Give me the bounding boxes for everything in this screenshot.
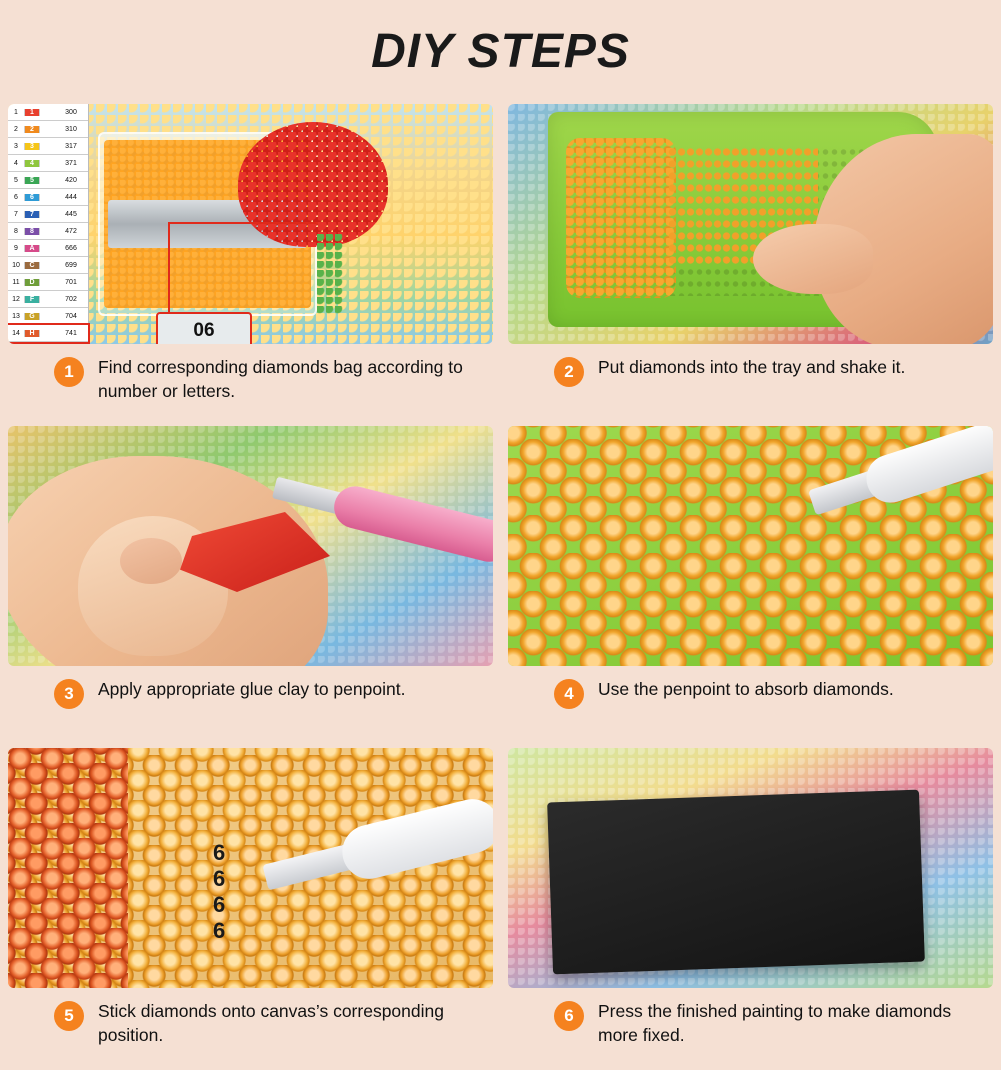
step-caption-text-1: Find corresponding diamonds bag accordin… bbox=[98, 356, 468, 403]
chart-row-code: D bbox=[25, 279, 40, 286]
canvas-green-stem bbox=[317, 234, 343, 314]
chart-row-index: 12 bbox=[8, 296, 25, 303]
photo-pressing-finished-painting-with-black-paper bbox=[508, 748, 993, 988]
chart-row-code: 3 bbox=[25, 143, 40, 150]
step-caption-text-2: Put diamonds into the tray and shake it. bbox=[598, 356, 905, 380]
photo-penpoint-picking-diamond-from-tray bbox=[508, 426, 993, 666]
color-chart-row: 11D701 bbox=[8, 274, 88, 291]
color-chart-row: 11300 bbox=[8, 104, 88, 121]
canvas-red-diamonds bbox=[8, 748, 128, 988]
chart-row-code: 8 bbox=[25, 228, 40, 235]
callout-line-vertical bbox=[168, 222, 170, 314]
chart-row-index: 2 bbox=[8, 126, 25, 133]
color-chart-row: 66444 bbox=[8, 189, 88, 206]
chart-row-code: 2 bbox=[25, 126, 40, 133]
step-number-badge-2: 2 bbox=[554, 357, 584, 387]
page-title: DIY STEPS bbox=[0, 24, 1001, 79]
chart-row-value: 472 bbox=[55, 228, 87, 235]
thumb bbox=[753, 224, 873, 294]
chart-row-index: 9 bbox=[8, 245, 25, 252]
chart-row-value: 300 bbox=[55, 109, 87, 116]
chart-row-index: 7 bbox=[8, 211, 25, 218]
bag-number-callout: 06 bbox=[156, 312, 252, 344]
step-number-badge-5: 5 bbox=[54, 1001, 84, 1031]
chart-row-value: 704 bbox=[55, 313, 87, 320]
step-caption-4: 4 Use the penpoint to absorb diamonds. bbox=[508, 666, 993, 748]
chart-row-index: 14 bbox=[8, 330, 25, 337]
black-pressing-sheet bbox=[547, 790, 925, 975]
chart-row-code: A bbox=[25, 245, 40, 252]
step-caption-1: 1 Find corresponding diamonds bag accord… bbox=[8, 344, 493, 426]
canvas-red-flower bbox=[238, 122, 388, 247]
color-chart-row: 13G704 bbox=[8, 308, 88, 325]
chart-row-code: F bbox=[25, 296, 40, 303]
color-chart-row: 55420 bbox=[8, 172, 88, 189]
chart-row-code: 1 bbox=[25, 109, 40, 116]
chart-row-value: 666 bbox=[55, 245, 87, 252]
tray-loose-diamonds bbox=[566, 138, 676, 298]
fingernail bbox=[120, 538, 182, 584]
chart-row-value: 445 bbox=[55, 211, 87, 218]
chart-row-value: 444 bbox=[55, 194, 87, 201]
step-caption-text-4: Use the penpoint to absorb diamonds. bbox=[598, 678, 894, 702]
step-card-2: 2 Put diamonds into the tray and shake i… bbox=[508, 104, 993, 426]
color-chart-row: 33317 bbox=[8, 138, 88, 155]
chart-row-value: 702 bbox=[55, 296, 87, 303]
chart-row-code: 7 bbox=[25, 211, 40, 218]
photo-diamond-bag-with-color-chart: 1130022310333174437155420664447744588472… bbox=[8, 104, 493, 344]
chart-row-value: 699 bbox=[55, 262, 87, 269]
chart-row-code: 5 bbox=[25, 177, 40, 184]
pen-body bbox=[330, 482, 493, 566]
step-number-badge-3: 3 bbox=[54, 679, 84, 709]
color-chart-row: 44371 bbox=[8, 155, 88, 172]
steps-grid: 1130022310333174437155420664447744588472… bbox=[8, 104, 993, 1070]
photo-green-tray-with-diamonds bbox=[508, 104, 993, 344]
chart-row-value: 317 bbox=[55, 143, 87, 150]
chart-row-code: G bbox=[25, 313, 40, 320]
color-chart-row: 14H741 bbox=[8, 325, 88, 342]
color-chart: 1130022310333174437155420664447744588472… bbox=[8, 104, 89, 344]
color-chart-row: 9A666 bbox=[8, 240, 88, 257]
photo-hand-holding-red-glue-clay-and-pink-pen bbox=[8, 426, 493, 666]
chart-row-index: 4 bbox=[8, 160, 25, 167]
chart-row-value: 701 bbox=[55, 279, 87, 286]
chart-row-index: 6 bbox=[8, 194, 25, 201]
chart-row-code: 4 bbox=[25, 160, 40, 167]
diy-steps-page: DIY STEPS 113002231033317443715542066444… bbox=[0, 0, 1001, 1001]
chart-row-index: 8 bbox=[8, 228, 25, 235]
photo-placing-diamonds-on-canvas: 6 66 6 bbox=[8, 748, 493, 988]
step-caption-text-6: Press the finished painting to make diam… bbox=[598, 1000, 968, 1047]
color-chart-row: 77445 bbox=[8, 206, 88, 223]
color-chart-row: 12F702 bbox=[8, 291, 88, 308]
step-number-badge-1: 1 bbox=[54, 357, 84, 387]
step-number-badge-4: 4 bbox=[554, 679, 584, 709]
chart-row-value: 420 bbox=[55, 177, 87, 184]
chart-row-code: 6 bbox=[25, 194, 40, 201]
step-caption-text-5: Stick diamonds onto canvas’s correspondi… bbox=[98, 1000, 468, 1047]
chart-row-index: 3 bbox=[8, 143, 25, 150]
chart-row-value: 371 bbox=[55, 160, 87, 167]
chart-row-index: 1 bbox=[8, 109, 25, 116]
chart-row-index: 11 bbox=[8, 279, 25, 286]
chart-row-value: 310 bbox=[55, 126, 87, 133]
step-card-6: 6 Press the finished painting to make di… bbox=[508, 748, 993, 1070]
color-chart-row: 10C699 bbox=[8, 257, 88, 274]
color-chart-row: 22310 bbox=[8, 121, 88, 138]
step-card-3: 3 Apply appropriate glue clay to penpoin… bbox=[8, 426, 493, 748]
step-number-badge-6: 6 bbox=[554, 1001, 584, 1031]
step-caption-5: 5 Stick diamonds onto canvas’s correspon… bbox=[8, 988, 493, 1070]
chart-row-index: 5 bbox=[8, 177, 25, 184]
chart-row-index: 13 bbox=[8, 313, 25, 320]
step-card-1: 1130022310333174437155420664447744588472… bbox=[8, 104, 493, 426]
step-caption-3: 3 Apply appropriate glue clay to penpoin… bbox=[8, 666, 493, 748]
color-chart-row: 15J742 bbox=[8, 342, 88, 344]
step-caption-6: 6 Press the finished painting to make di… bbox=[508, 988, 993, 1070]
step-caption-2: 2 Put diamonds into the tray and shake i… bbox=[508, 344, 993, 426]
color-chart-row: 88472 bbox=[8, 223, 88, 240]
callout-line-horizontal bbox=[168, 222, 318, 224]
step-caption-text-3: Apply appropriate glue clay to penpoint. bbox=[98, 678, 405, 702]
chart-row-value: 741 bbox=[55, 330, 87, 337]
step-card-4: 4 Use the penpoint to absorb diamonds. bbox=[508, 426, 993, 748]
chart-row-code: C bbox=[25, 262, 40, 269]
step-card-5: 6 66 6 5 Stick diamonds onto canvas’s co… bbox=[8, 748, 493, 1070]
chart-row-code: H bbox=[25, 330, 40, 337]
chart-row-index: 10 bbox=[8, 262, 25, 269]
